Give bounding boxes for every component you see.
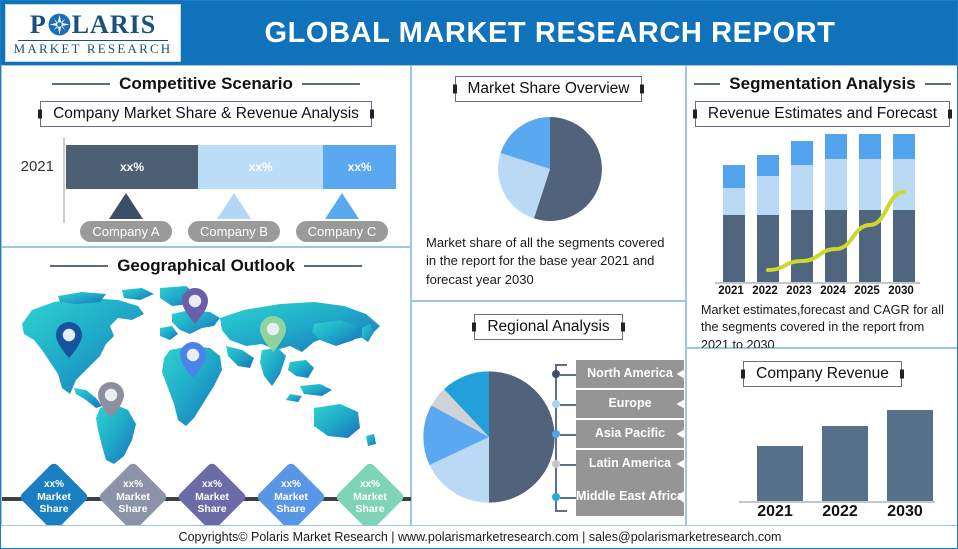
revenue-bar (822, 426, 868, 501)
revenue-year-label: 2030 (877, 503, 933, 521)
region-connector-line (560, 497, 576, 499)
region-connector-line (560, 464, 576, 466)
logo-text-p: P (30, 12, 47, 38)
title-rule-left (694, 83, 720, 85)
region-marker-dot-icon (552, 430, 560, 438)
revenue-bar (887, 410, 933, 501)
market-share-diamond[interactable] (335, 462, 406, 533)
segmentation-section-title: Segmentation Analysis (687, 74, 958, 94)
segmentation-stack-segment (757, 176, 779, 215)
region-ribbon-label: Asia Pacific (576, 420, 684, 448)
segmentation-year-label: 2024 (815, 285, 851, 297)
segmentation-title-text: Segmentation Analysis (729, 74, 915, 94)
segmentation-column (757, 155, 779, 283)
overview-pie-chart (497, 116, 603, 222)
region-legend-item[interactable]: Latin America (552, 450, 684, 478)
company-label: Company B (188, 221, 280, 242)
revenue-year-label: 2022 (812, 503, 868, 521)
map-pin-europe-north[interactable] (182, 288, 208, 324)
revenue-title: Company Revenue (743, 361, 902, 387)
regional-pie-chart (422, 370, 556, 504)
segmentation-year-label: 2022 (747, 285, 783, 297)
competitive-segment: xx% (323, 145, 396, 189)
regional-title: Regional Analysis (474, 314, 622, 340)
segmentation-column (791, 141, 813, 282)
market-share-badges: xx%MarketSharexx%MarketSharexx%MarketSha… (2, 466, 412, 528)
region-legend: North AmericaEuropeAsia PacificLatin Ame… (552, 358, 684, 518)
company-share-chart: 2021 xx%xx%xx% Company ACompany BCompany… (2, 138, 412, 246)
segmentation-stack-segment (859, 210, 881, 282)
segmentation-stack-segment (791, 165, 813, 210)
logo-text-laris: LARIS (72, 12, 156, 38)
competitive-company-markers: Company ACompany BCompany C (66, 193, 396, 245)
geographical-outlook-panel: Geographical Outlook (1, 247, 411, 527)
title-rule-left (52, 83, 110, 85)
segmentation-stack-segment (757, 215, 779, 283)
region-connector-line (560, 404, 576, 406)
segmentation-column (859, 134, 881, 283)
segmentation-year-label: 2023 (781, 285, 817, 297)
competitive-scenario-panel: Competitive Scenario Company Market Shar… (1, 65, 411, 247)
competitive-subtitle: Company Market Share & Revenue Analysis (40, 101, 372, 127)
triangle-pointer-icon (109, 193, 143, 219)
competitive-year-label: 2021 (10, 158, 54, 175)
segmentation-baseline (715, 282, 920, 284)
company-marker[interactable]: Company B (184, 193, 284, 242)
segmentation-column (893, 134, 915, 283)
segmentation-subtitle: Revenue Estimates and Forecast (695, 101, 950, 127)
regional-analysis-panel: Regional Analysis North AmericaEuropeAsi… (411, 301, 686, 527)
segmentation-year-label: 2025 (849, 285, 885, 297)
segmentation-stack-segment (791, 141, 813, 165)
segmentation-analysis-panel: Segmentation Analysis Revenue Estimates … (686, 65, 958, 348)
segmentation-stack-segment (859, 134, 881, 160)
market-share-diamond[interactable] (98, 462, 169, 533)
title-rule-left (50, 265, 108, 267)
segmentation-stack-segment (859, 159, 881, 210)
title-rule-right (302, 83, 360, 85)
compass-star-icon (48, 13, 71, 36)
region-legend-item[interactable]: Middle East Africa (552, 478, 684, 516)
copyright-text: Copyrights© Polaris Market Research | ww… (179, 530, 782, 544)
pie-slice (489, 371, 555, 502)
region-marker-dot-icon (552, 370, 560, 378)
region-connector-line (560, 374, 576, 376)
logo-tagline: MARKET RESEARCH (14, 42, 173, 55)
segmentation-column (723, 165, 745, 282)
triangle-pointer-icon (217, 193, 251, 219)
market-share-diamond[interactable] (177, 462, 248, 533)
company-revenue-chart (747, 395, 927, 501)
overview-title: Market Share Overview (455, 76, 643, 102)
region-marker-dot-icon (552, 493, 560, 501)
segmentation-note: Market estimates,forecast and CAGR for a… (701, 302, 953, 354)
segmentation-year-axis: 202120222023202420252030 (712, 285, 930, 301)
region-ribbon-label: Latin America (576, 450, 684, 478)
segmentation-stack-segment (825, 134, 847, 160)
region-legend-item[interactable]: Asia Pacific (552, 420, 684, 448)
region-legend-item[interactable]: North America (552, 360, 684, 388)
competitive-segment: xx% (66, 145, 198, 189)
region-ribbon-label: North America (576, 360, 684, 388)
market-share-diamond[interactable] (256, 462, 327, 533)
infographic-page: P LARIS MARKET RESEARCH GLOBAL M (0, 0, 958, 549)
segmentation-stack-segment (893, 159, 915, 210)
map-pin-south-america[interactable] (98, 382, 124, 418)
segmentation-stack-segment (723, 165, 745, 188)
revenue-year-axis: 202120222030 (742, 503, 932, 523)
title-rule-right (304, 265, 362, 267)
triangle-pointer-icon (325, 193, 359, 219)
segmentation-year-label: 2030 (883, 285, 919, 297)
page-header: P LARIS MARKET RESEARCH GLOBAL M (1, 1, 958, 65)
region-ribbon-label: Middle East Africa (576, 478, 684, 516)
segmentation-stack-segment (723, 215, 745, 283)
segmentation-stack-segment (893, 210, 915, 282)
competitive-segment: xx% (198, 145, 323, 189)
company-revenue-panel: Company Revenue 202120222030 (686, 348, 958, 527)
geographical-title-text: Geographical Outlook (117, 256, 295, 276)
revenue-forecast-chart (715, 132, 933, 282)
market-share-overview-panel: Market Share Overview Market share of al… (411, 65, 686, 301)
region-marker-dot-icon (552, 400, 560, 408)
polaris-logo: P LARIS MARKET RESEARCH (5, 4, 181, 62)
competitive-axis (63, 138, 65, 223)
segmentation-stack-segment (791, 210, 813, 282)
overview-note: Market share of all the segments covered… (426, 234, 676, 289)
segmentation-stack-segment (825, 159, 847, 210)
market-share-diamond[interactable] (19, 462, 90, 533)
logo-wordmark: P LARIS (30, 12, 156, 38)
region-ribbon-label: Europe (576, 390, 684, 418)
geographical-section-title: Geographical Outlook (2, 256, 410, 276)
map-pin-east-asia[interactable] (260, 316, 286, 352)
competitive-title-text: Competitive Scenario (119, 74, 293, 94)
company-marker[interactable]: Company C (292, 193, 392, 242)
company-label: Company A (80, 221, 171, 242)
region-marker-dot-icon (552, 460, 560, 468)
company-label: Company C (296, 221, 389, 242)
segmentation-stack-segment (825, 210, 847, 282)
segmentation-stack-segment (757, 155, 779, 176)
title-rule-right (925, 83, 951, 85)
map-pin-north-america[interactable] (56, 322, 82, 358)
map-pin-africa-middle-east[interactable] (180, 342, 206, 378)
segmentation-stack-segment (893, 134, 915, 160)
region-legend-item[interactable]: Europe (552, 390, 684, 418)
world-map (14, 284, 400, 466)
page-footer: Copyrights© Polaris Market Research | ww… (1, 525, 958, 548)
revenue-year-label: 2021 (747, 503, 803, 521)
segmentation-column (825, 134, 847, 283)
region-connector-line (560, 434, 576, 436)
revenue-bar (757, 446, 803, 501)
company-marker[interactable]: Company A (76, 193, 176, 242)
competitive-section-title: Competitive Scenario (2, 74, 410, 94)
page-title: GLOBAL MARKET RESEARCH REPORT (181, 17, 958, 50)
competitive-stacked-bar: xx%xx%xx% (66, 145, 396, 189)
segmentation-stack-segment (723, 188, 745, 215)
segmentation-year-label: 2021 (713, 285, 749, 297)
